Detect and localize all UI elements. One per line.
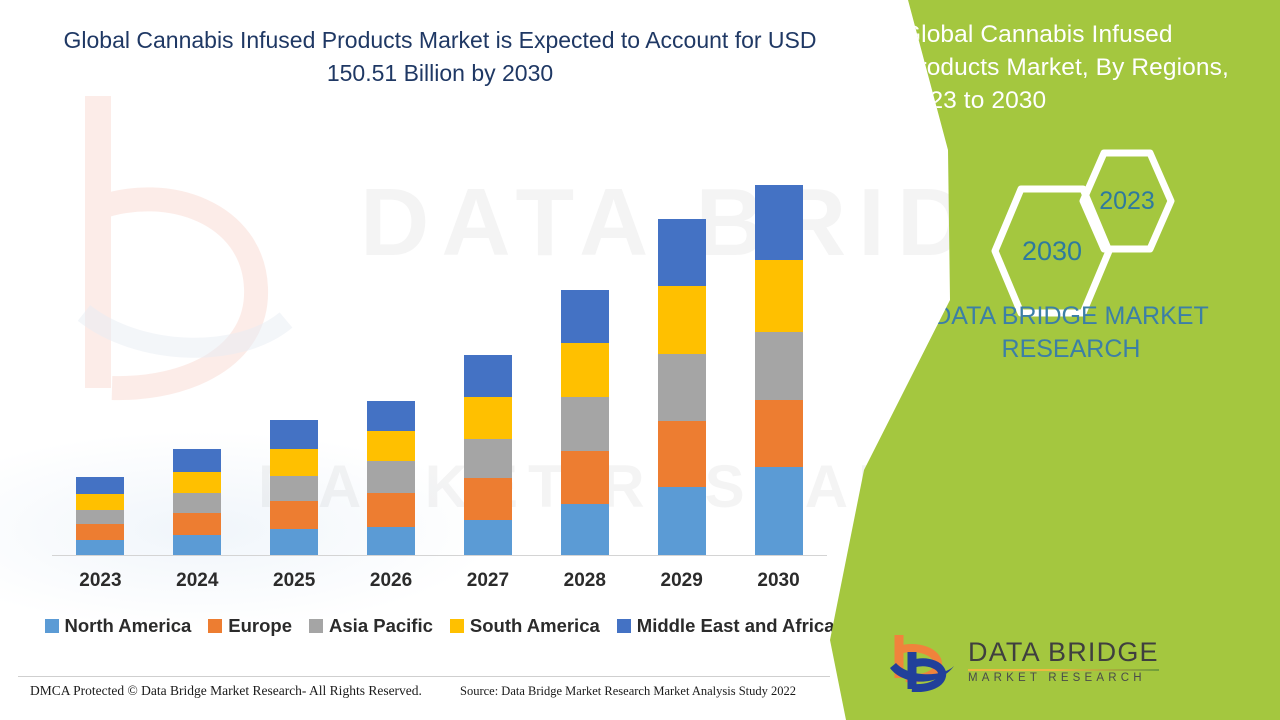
- infographic-root: DATA BRIDGE MARKET RESEARCH Global Canna…: [0, 0, 1280, 720]
- bar-stack: [173, 449, 221, 555]
- x-axis-label: 2030: [731, 570, 826, 592]
- panel-title: Global Cannabis Infused Products Market,…: [902, 18, 1262, 117]
- bar-segment: [270, 420, 318, 449]
- bar-stack: [76, 477, 124, 555]
- bar-segment: [76, 477, 124, 494]
- bar-segment: [173, 513, 221, 535]
- bar-stack: [270, 420, 318, 555]
- hexagon-2023-label: 2023: [1099, 187, 1155, 216]
- bar-column: [344, 150, 439, 555]
- bar-column: [53, 150, 148, 555]
- x-axis-label: 2029: [634, 570, 729, 592]
- bar-column: [537, 150, 632, 555]
- bar-segment: [270, 449, 318, 476]
- bar-segment: [76, 540, 124, 555]
- bar-series-container: [52, 150, 827, 555]
- bar-segment: [76, 494, 124, 510]
- plot-area: [52, 150, 827, 556]
- bar-segment: [561, 397, 609, 451]
- legend-label: South America: [470, 615, 600, 637]
- bar-column: [440, 150, 535, 555]
- bar-segment: [561, 290, 609, 343]
- hexagon-group: 2030 2023: [980, 148, 1210, 298]
- bar-segment: [658, 354, 706, 421]
- bar-segment: [173, 449, 221, 472]
- bar-segment: [464, 478, 512, 520]
- x-axis-labels: 20232024202520262027202820292030: [52, 570, 827, 592]
- legend-item[interactable]: South America: [450, 615, 600, 637]
- bar-segment: [464, 439, 512, 478]
- bar-segment: [755, 332, 803, 400]
- databridge-logo-text: DATA BRIDGE MARKET RESEARCH: [968, 639, 1159, 685]
- bar-segment: [658, 487, 706, 555]
- bar-segment: [561, 343, 609, 397]
- x-axis-label: 2028: [537, 570, 632, 592]
- bar-stack: [755, 185, 803, 555]
- legend-swatch: [617, 619, 631, 633]
- bar-column: [247, 150, 342, 555]
- legend-item[interactable]: Europe: [208, 615, 292, 637]
- footer-source: Source: Data Bridge Market Research Mark…: [460, 684, 796, 699]
- databridge-logo: DATA BRIDGE MARKET RESEARCH: [886, 630, 1236, 694]
- databridge-logo-mark-icon: [886, 632, 958, 692]
- bar-segment: [658, 286, 706, 354]
- bar-segment: [464, 355, 512, 397]
- bar-segment: [173, 493, 221, 513]
- bar-stack: [464, 355, 512, 555]
- legend-swatch: [45, 619, 59, 633]
- bar-segment: [561, 451, 609, 504]
- bar-segment: [76, 524, 124, 540]
- bar-segment: [658, 421, 706, 487]
- bar-segment: [270, 529, 318, 555]
- legend-label: Asia Pacific: [329, 615, 433, 637]
- bar-segment: [464, 520, 512, 555]
- bar-segment: [270, 501, 318, 529]
- legend-swatch: [208, 619, 222, 633]
- footer-copyright: DMCA Protected © Data Bridge Market Rese…: [30, 683, 422, 699]
- bar-column: [150, 150, 245, 555]
- hexagon-2030-label: 2030: [1022, 236, 1082, 267]
- bar-segment: [367, 461, 415, 493]
- green-side-panel: Global Cannabis Infused Products Market,…: [830, 0, 1280, 720]
- logo-subtitle: MARKET RESEARCH: [968, 673, 1159, 685]
- bar-stack: [658, 219, 706, 555]
- bar-stack: [367, 401, 415, 555]
- x-axis-label: 2024: [150, 570, 245, 592]
- bar-stack: [561, 290, 609, 555]
- legend-swatch: [309, 619, 323, 633]
- bar-segment: [270, 476, 318, 501]
- bar-segment: [367, 493, 415, 527]
- bar-segment: [755, 467, 803, 555]
- logo-divider: [968, 669, 1159, 671]
- legend-item[interactable]: North America: [45, 615, 192, 637]
- legend-label: Middle East and Africa: [637, 615, 835, 637]
- bar-column: [634, 150, 729, 555]
- bar-segment: [367, 401, 415, 431]
- bar-segment: [367, 431, 415, 461]
- x-axis-label: 2026: [344, 570, 439, 592]
- bar-segment: [367, 527, 415, 555]
- legend-item[interactable]: Asia Pacific: [309, 615, 433, 637]
- x-axis-label: 2025: [247, 570, 342, 592]
- bar-segment: [755, 400, 803, 467]
- chart-panel: DATA BRIDGE MARKET RESEARCH Global Canna…: [0, 0, 870, 720]
- logo-title: DATA BRIDGE: [968, 639, 1159, 666]
- hexagon-2023: 2023: [1078, 148, 1176, 254]
- brand-name: DATA BRIDGE MARKET RESEARCH: [886, 300, 1256, 365]
- bar-column: [731, 150, 826, 555]
- x-axis-label: 2027: [440, 570, 535, 592]
- bar-segment: [561, 504, 609, 555]
- chart-title: Global Cannabis Infused Products Market …: [40, 24, 840, 91]
- bar-segment: [658, 219, 706, 286]
- bar-segment: [173, 535, 221, 555]
- x-axis-label: 2023: [53, 570, 148, 592]
- chart-legend: North AmericaEuropeAsia PacificSouth Ame…: [52, 615, 827, 637]
- bar-segment: [755, 185, 803, 260]
- legend-item[interactable]: Middle East and Africa: [617, 615, 835, 637]
- footer-divider: [18, 676, 830, 677]
- bar-segment: [173, 472, 221, 493]
- legend-label: Europe: [228, 615, 292, 637]
- bar-segment: [464, 397, 512, 439]
- x-axis-line: [52, 555, 827, 556]
- bar-segment: [755, 260, 803, 332]
- legend-label: North America: [65, 615, 192, 637]
- bar-segment: [76, 510, 124, 524]
- legend-swatch: [450, 619, 464, 633]
